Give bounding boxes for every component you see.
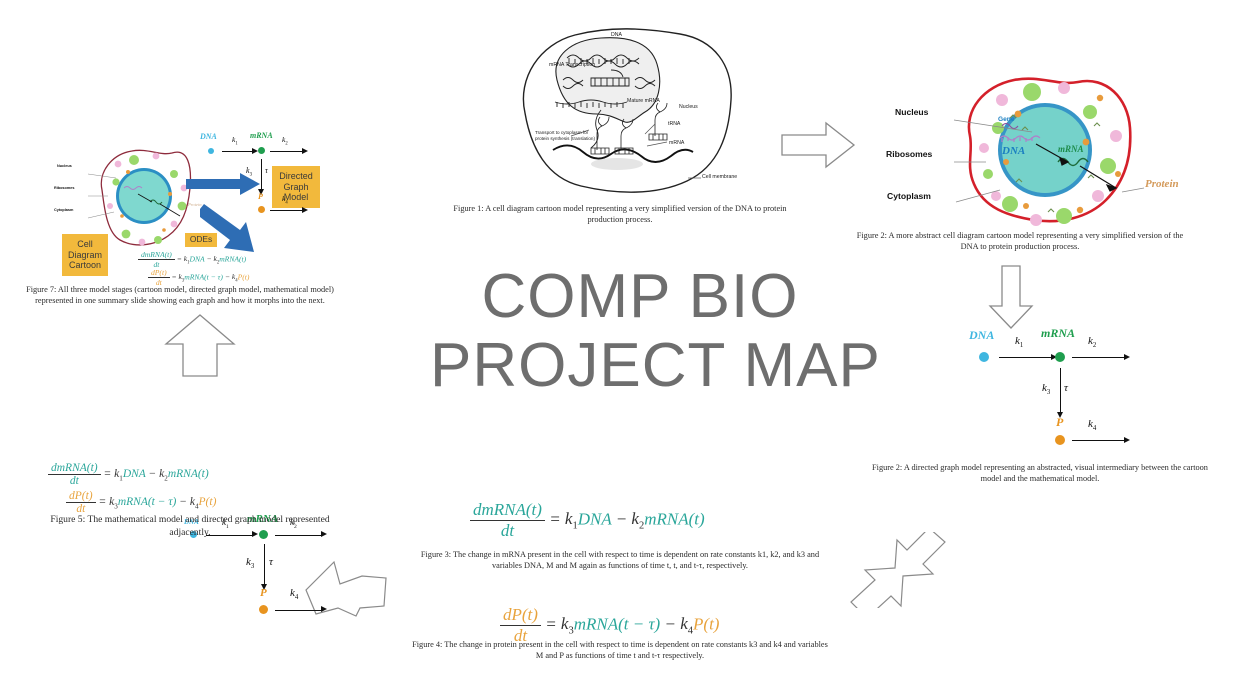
figure4-mrna-term: mRNA(t − τ)	[574, 614, 661, 633]
figure7-node-protein	[258, 206, 265, 213]
figure5-eq2-k3: k3	[109, 496, 118, 508]
arrow-fig2cell-to-graph	[985, 262, 1037, 332]
figure7-delay-tau: τ	[265, 166, 268, 175]
figure4-caption: Figure 4: The change in protein present …	[412, 639, 828, 661]
figure5-eq2-minus: −	[179, 496, 187, 508]
graph-rate-k2: k2	[1088, 335, 1096, 349]
figure5-node-label-protein: P	[260, 587, 267, 599]
graph-node-protein	[1055, 435, 1065, 445]
figure2-directed-graph: DNA k1 mRNA k2 k3 τ P k4	[960, 330, 1140, 455]
figure7-label-cytoplasm: Cytoplasm	[54, 208, 73, 212]
figure7-node-label-dna: DNA	[200, 132, 217, 141]
figure5-eq2-numerator: dP(t)	[66, 490, 96, 503]
figure3-equals: =	[549, 509, 560, 528]
figure4-protein-term: P(t)	[693, 614, 719, 633]
figure7-edge-mrna-out	[270, 151, 304, 152]
figure7-eq2-protein: P(t)	[238, 272, 250, 281]
figure2-cell-caption: Figure 2: A more abstract cell diagram c…	[855, 230, 1185, 252]
graph-edge-protein-out	[1072, 440, 1126, 441]
figure1-label-transport: Transport to cytoplasm for protein synth…	[535, 130, 595, 141]
figure5-eq1-dna: DNA	[123, 468, 146, 480]
figure7-eq2-minus: −	[225, 272, 230, 281]
graph-node-label-mrna: mRNA	[1041, 326, 1075, 341]
figure5-eq2-fraction: dP(t) dt	[66, 490, 96, 515]
figure5-rate-k3: k3	[246, 556, 254, 570]
figure4-k3: k3	[561, 614, 574, 633]
figure1-label-dna: DNA	[611, 32, 622, 38]
figure1-label-transcription: mRNA Transcription	[549, 62, 595, 68]
figure5-eq1-minus: −	[149, 468, 157, 480]
figure7-node-mrna	[258, 147, 265, 154]
figure5-eq1-denominator: dt	[48, 475, 101, 487]
figure5-equation-mrna: dmRNA(t) dt = k1DNA − k2mRNA(t)	[48, 462, 209, 487]
figure5-eq2-protein: P(t)	[199, 496, 217, 508]
figure3-minus: −	[616, 509, 627, 528]
figure4-equals: =	[545, 614, 556, 633]
figure5-eq1-fraction: dmRNA(t) dt	[48, 462, 101, 487]
figure7-caption: Figure 7: All three model stages (cartoo…	[12, 284, 348, 306]
figure5-rate-k4: k4	[290, 587, 298, 601]
figure3-k2: k2	[631, 509, 644, 528]
figure7-eq1-dna: DNA	[189, 254, 204, 263]
graph-rate-k4: k4	[1088, 418, 1096, 432]
graph-delay-tau: τ	[1064, 382, 1068, 394]
figure2-label-dna: DNA	[1002, 145, 1025, 157]
figure7-edge-mrna-protein	[261, 159, 262, 191]
figure4-numerator: dP(t)	[500, 605, 541, 626]
box-line-diagram: Diagram	[68, 250, 102, 260]
figure7-eq1-equals: =	[177, 254, 182, 263]
graph-edge-dna-mrna	[999, 357, 1053, 358]
project-map-canvas: COMP BIO PROJECT MAP	[0, 0, 1240, 680]
figure7-eq2-equals: =	[172, 272, 177, 281]
figure3-equation: dmRNA(t) dt = k1DNA − k2mRNA(t)	[470, 500, 705, 541]
page-title-line-2: PROJECT MAP	[430, 331, 850, 400]
box-line-cell: Cell	[77, 239, 93, 249]
figure7-edge-protein-out	[270, 210, 304, 211]
figure1-label-cell-membrane: Cell membrane	[702, 174, 737, 180]
figure3-dna-term: DNA	[578, 509, 612, 528]
figure7-label-nucleus: Nucleus	[57, 164, 72, 168]
figure5-eq1-k1: k1	[114, 468, 123, 480]
figure5-eq1-mrna: mRNA(t)	[168, 468, 209, 480]
figure2-label-protein: Protein	[1145, 178, 1179, 190]
graph-node-label-dna: DNA	[969, 328, 994, 343]
page-title: COMP BIO PROJECT MAP	[430, 262, 850, 401]
graph-arrowhead-protein-out	[1124, 437, 1130, 443]
figure1-label-trna: tRNA	[668, 121, 680, 127]
figure7-eq1-fraction: dmRNA(t) dt	[138, 250, 175, 269]
figure2-cell-svg	[940, 70, 1150, 230]
figure3-fraction: dmRNA(t) dt	[470, 500, 545, 541]
figure7-summary-slide: Nucleus Ribosomes Cytoplasm Protein Cell…	[60, 130, 360, 280]
graph-node-label-protein: P	[1056, 415, 1063, 430]
figure5-edge-protein-out	[275, 610, 323, 611]
figure7-arrowhead-protein-out	[302, 207, 308, 213]
figure7-arrowhead-mrna-out	[302, 148, 308, 154]
figure5-eq1-equals: =	[104, 468, 112, 480]
figure7-rate-k3: k3	[246, 166, 252, 178]
figure7-rate-k1: k1	[232, 135, 238, 147]
figure5-eq2-equals: =	[99, 496, 107, 508]
figure4-minus: −	[664, 614, 675, 633]
graph-node-dna	[979, 352, 989, 362]
figure2-label-nucleus: Nucleus	[895, 107, 928, 117]
figure7-node-dna	[208, 148, 214, 154]
page-title-line-1: COMP BIO	[430, 262, 850, 331]
figure1-label-mrna: mRNA	[669, 140, 684, 146]
figure3-caption: Figure 3: The change in mRNA present in …	[412, 549, 828, 571]
figure7-label-ribosomes: Ribosomes	[54, 186, 74, 190]
box-line-cartoon: Cartoon	[69, 260, 101, 270]
graph-rate-k1: k1	[1015, 335, 1023, 349]
figure7-box-cell-diagram-cartoon: Cell Diagram Cartoon	[62, 234, 108, 276]
figure5-eq1-numerator: dmRNA(t)	[48, 462, 101, 475]
arrow-fig1-to-fig2cell	[778, 118, 858, 172]
figure7-directed-graph: DNA k1 mRNA k2 k3 τ P k4	[200, 134, 320, 230]
figure7-eq2-numerator: dP(t)	[148, 268, 170, 278]
figure5-caption: Figure 5: The mathematical model and dir…	[30, 514, 350, 540]
figure7-eq2-mrna: mRNA(t − τ)	[184, 272, 223, 281]
figure3-denominator: dt	[470, 521, 545, 541]
graph-arrowhead-mrna-out	[1124, 354, 1130, 360]
figure7-eq1-numerator: dmRNA(t)	[138, 250, 175, 260]
figure3-mrna-term: mRNA(t)	[644, 509, 704, 528]
figure7-node-label-mrna: mRNA	[250, 131, 273, 140]
graph-edge-mrna-out	[1072, 357, 1126, 358]
figure1-cell-svg	[505, 18, 745, 198]
graph-edge-mrna-protein	[1060, 368, 1061, 414]
figure7-eq1-minus: −	[206, 254, 211, 263]
figure5-node-protein	[259, 605, 268, 614]
figure3-numerator: dmRNA(t)	[470, 500, 545, 521]
figure5-equation-protein: dP(t) dt = k3mRNA(t − τ) − k4P(t)	[66, 490, 216, 515]
arrow-fig5-to-fig7	[162, 312, 238, 380]
figure2-label-gene: Gene	[998, 116, 1015, 123]
arrow-graph-to-equations	[845, 532, 950, 608]
figure2-abstract-cell: Nucleus Ribosomes Cytoplasm Gene DNA mRN…	[940, 70, 1150, 230]
figure7-eq1-mrna: mRNA(t)	[219, 254, 246, 263]
figure5-eq2-mrna: mRNA(t − τ)	[118, 496, 177, 508]
figure5-delay-tau: τ	[269, 556, 273, 568]
figure5-arrowhead-protein-out	[321, 606, 327, 612]
figure4-k4: k4	[680, 614, 693, 633]
figure3-k1: k1	[565, 509, 578, 528]
figure5-eq1-k2: k2	[159, 468, 168, 480]
graph-rate-k3: k3	[1042, 382, 1050, 396]
figure7-equation-mrna: dmRNA(t) dt = k1DNA − k2mRNA(t)	[138, 250, 246, 269]
figure7-node-label-protein: P	[258, 192, 263, 201]
figure1-cell-diagram: DNA mRNA Transcription Mature mRNA Nucle…	[505, 18, 745, 198]
figure2-label-ribosomes: Ribosomes	[886, 149, 932, 159]
figure7-rate-k4: k4	[282, 194, 288, 206]
figure2-label-cytoplasm: Cytoplasm	[887, 191, 931, 201]
figure2-label-mrna: mRNA	[1058, 144, 1084, 154]
figure2-graph-caption: Figure 2: A directed graph model represe…	[870, 462, 1210, 484]
figure5-eq2-k4: k4	[190, 496, 199, 508]
figure5-edge-mrna-protein	[264, 544, 265, 586]
figure7-edge-dna-mrna	[222, 151, 254, 152]
figure7-rate-k2: k2	[282, 135, 288, 147]
figure1-label-mature-mrna: Mature mRNA	[627, 98, 660, 104]
figure1-caption: Figure 1: A cell diagram cartoon model r…	[440, 203, 800, 225]
graph-node-mrna	[1055, 352, 1065, 362]
